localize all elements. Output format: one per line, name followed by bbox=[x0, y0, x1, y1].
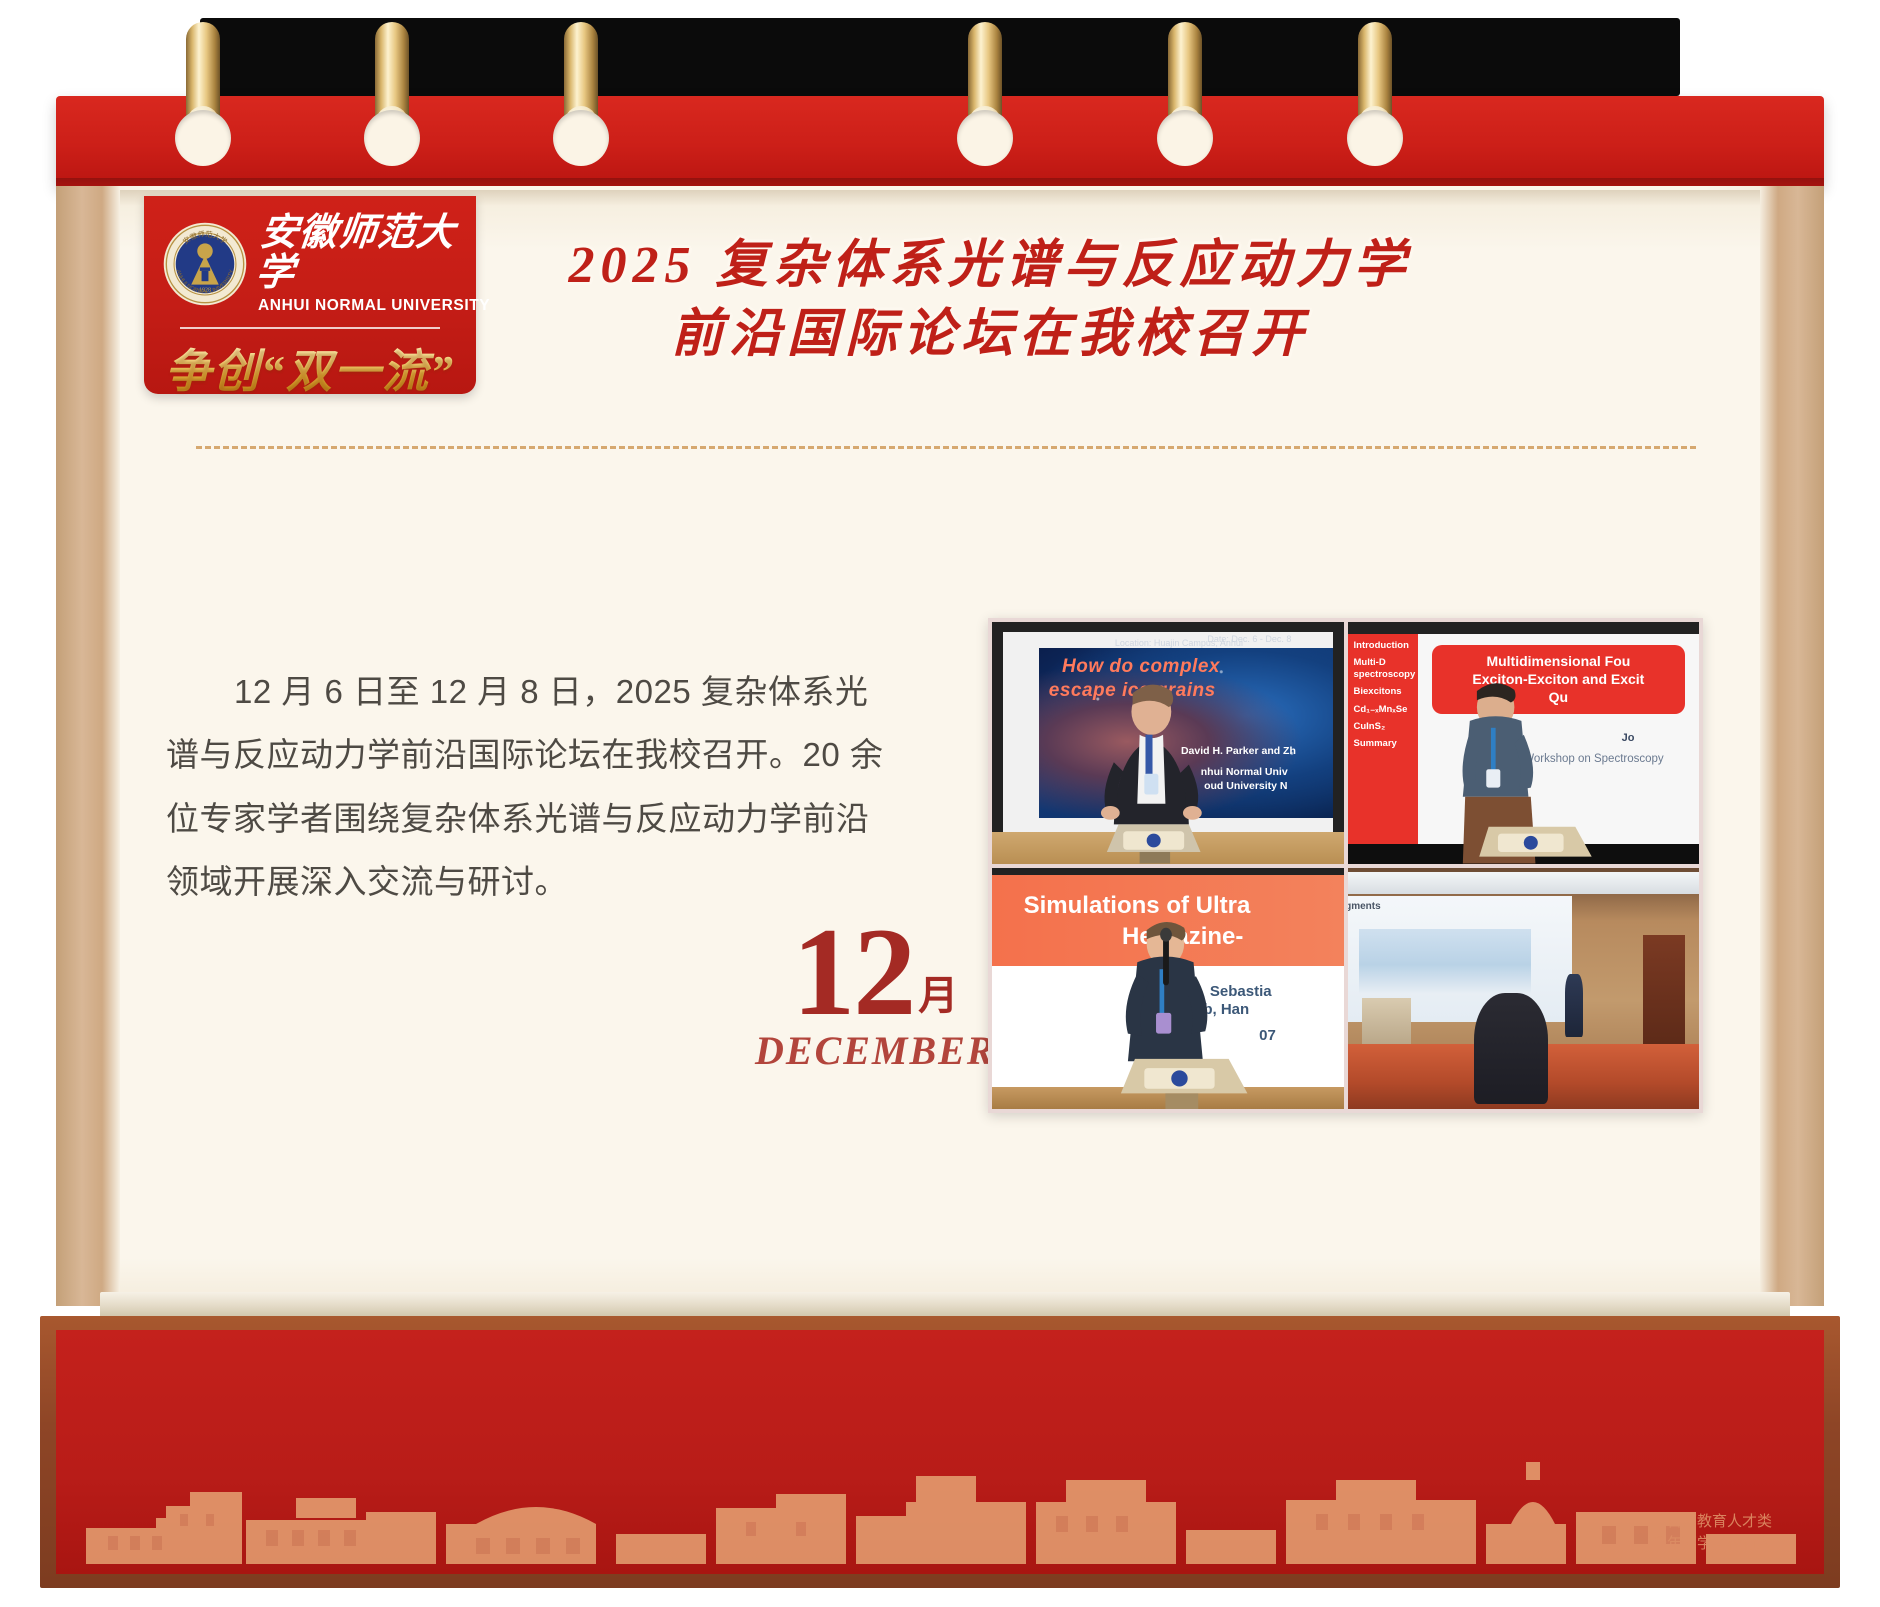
photo-lecture-multidimensional-slide[interactable]: Introduction Multi-D spectroscopy Biexci… bbox=[1348, 622, 1700, 864]
date-row: 12 月 bbox=[755, 915, 996, 1031]
speaker-silhouette bbox=[992, 622, 1344, 864]
hall-door bbox=[1643, 935, 1685, 1046]
standing-presenter bbox=[1565, 974, 1583, 1037]
university-logo-badge: 1928 安徽师范大学 ANHUI NORMAL UNIVERSITY 安徽师范… bbox=[144, 196, 476, 394]
page-title-line-2: 前沿国际论坛在我校召开 bbox=[560, 301, 1420, 370]
ring-hole-3 bbox=[553, 110, 609, 166]
campus-skyline-illustration: 千百万教育人才类 千年万学者校有人 bbox=[56, 1414, 1824, 1574]
ring-hole-1 bbox=[175, 110, 231, 166]
university-name-cn: 安徽师范大学 bbox=[254, 214, 495, 294]
photo-lecture-simulations-slide[interactable]: Simulations of Ultra Heptazine- Sebastia… bbox=[992, 868, 1344, 1110]
date-number: 12 bbox=[792, 915, 914, 1031]
date-month-en: DECEMBER bbox=[755, 1027, 996, 1074]
ring-hole-2 bbox=[364, 110, 420, 166]
photo-lecture-space-slide[interactable]: Location: Huajin Campus, Anhui Date: Dec… bbox=[992, 622, 1344, 864]
calendar-base-red-panel: 千百万教育人才类 千年万学者校有人 bbox=[56, 1330, 1824, 1574]
article-body: 12 月 6 日至 12 月 8 日，2025 复杂体系光 谱与反应动力学前沿国… bbox=[166, 660, 956, 913]
page-title-line-1: 2025 复杂体系光谱与反应动力学 bbox=[560, 232, 1420, 301]
page-title: 2025 复杂体系光谱与反应动力学 前沿国际论坛在我校召开 bbox=[560, 232, 1420, 369]
photo-audience-hall[interactable]: gments bbox=[1348, 868, 1700, 1110]
speaker-silhouette bbox=[992, 868, 1344, 1110]
dashed-divider bbox=[196, 446, 1696, 449]
university-seal-icon: 1928 安徽师范大学 ANHUI NORMAL UNIVERSITY bbox=[162, 221, 248, 307]
calendar-top-bar bbox=[200, 18, 1680, 96]
svg-text:千百万教育人才类: 千百万教育人才类 bbox=[1652, 1513, 1772, 1530]
logo-row: 1928 安徽师范大学 ANHUI NORMAL UNIVERSITY 安徽师范… bbox=[144, 214, 476, 315]
calendar-poster: 1928 安徽师范大学 ANHUI NORMAL UNIVERSITY 安徽师范… bbox=[0, 0, 1880, 1607]
ceiling-lights bbox=[1348, 872, 1700, 894]
logo-divider bbox=[180, 327, 440, 329]
photo-collage: Location: Huajin Campus, Anhui Date: Dec… bbox=[988, 618, 1703, 1113]
article-line: 位专家学者围绕复杂体系光谱与反应动力学前沿 bbox=[166, 787, 956, 850]
calendar-red-cap bbox=[56, 96, 1824, 186]
date-block: 12 月 DECEMBER bbox=[755, 915, 996, 1074]
article-line: 12 月 6 日至 12 月 8 日，2025 复杂体系光 bbox=[166, 660, 956, 723]
audience-member-foreground bbox=[1474, 993, 1548, 1104]
ring-hole-4 bbox=[957, 110, 1013, 166]
ring-hole-6 bbox=[1347, 110, 1403, 166]
speaker-silhouette bbox=[1348, 622, 1700, 864]
svg-text:千年万学者校有人: 千年万学者校有人 bbox=[1652, 1535, 1772, 1552]
article-line: 谱与反应动力学前沿国际论坛在我校召开。20 余 bbox=[166, 723, 956, 786]
date-month-cn: 月 bbox=[918, 963, 958, 1021]
university-slogan: 争创“双一流” bbox=[144, 335, 476, 401]
ring-hole-5 bbox=[1157, 110, 1213, 166]
slide-group-photo bbox=[1359, 929, 1531, 994]
slide-label: gments bbox=[1348, 901, 1381, 912]
university-name-en: ANHUI NORMAL UNIVERSITY bbox=[258, 297, 490, 315]
logo-text: 安徽师范大学 ANHUI NORMAL UNIVERSITY bbox=[258, 214, 490, 315]
